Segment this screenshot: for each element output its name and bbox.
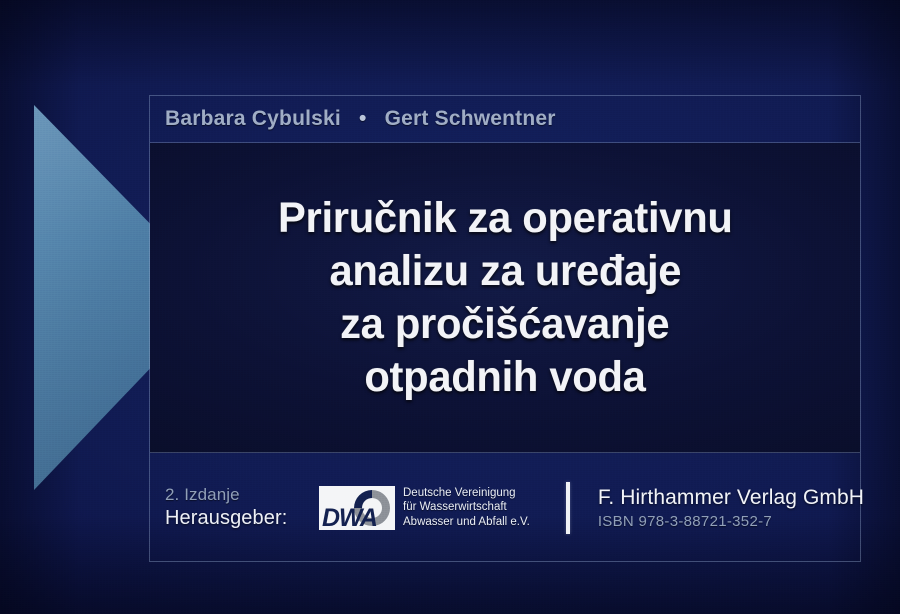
title-line-4: otpadnih voda	[364, 351, 645, 404]
cover-footer: 2. Izdanje Herausgeber: DWA Deutsche Ver…	[150, 454, 860, 561]
cover-panel: Barbara Cybulski • Gert Schwentner Priru…	[149, 95, 861, 562]
author-separator-dot: •	[359, 107, 367, 131]
publisher-label: Herausgeber:	[165, 506, 315, 531]
footer-vertical-divider	[566, 482, 570, 534]
edition-text: 2. Izdanje	[165, 484, 315, 506]
dwa-text-line-1: Deutsche Vereinigung	[403, 486, 530, 501]
dwa-logo-letters: DWA	[322, 504, 377, 530]
author-second-name: Gert Schwentner	[385, 107, 556, 130]
dwa-logo-mark: DWA	[319, 486, 395, 530]
author-first-name: Barbara Cybulski	[165, 107, 341, 130]
book-cover: Barbara Cybulski • Gert Schwentner Priru…	[0, 0, 900, 614]
title-field: Priručnik za operativnu analizu za uređa…	[150, 143, 860, 453]
dwa-logo-text: Deutsche Vereinigung für Wasserwirtschaf…	[403, 486, 530, 530]
title-line-3: za pročišćavanje	[340, 298, 669, 351]
authors-line: Barbara Cybulski • Gert Schwentner	[165, 107, 556, 131]
dwa-text-line-2: für Wasserwirtschaft	[403, 500, 530, 515]
publisher-name: F. Hirthammer Verlag GmbH	[598, 484, 864, 511]
edition-block: 2. Izdanje Herausgeber:	[165, 484, 315, 531]
authors-strip: Barbara Cybulski • Gert Schwentner	[150, 96, 860, 143]
title-line-2: analizu za uređaje	[329, 245, 681, 298]
title-line-1: Priručnik za operativnu	[278, 192, 733, 245]
isbn-text: ISBN 978-3-88721-352-7	[598, 511, 864, 532]
dwa-logo-block: DWA Deutsche Vereinigung für Wasserwirts…	[319, 486, 530, 530]
dwa-text-line-3: Abwasser und Abfall e.V.	[403, 515, 530, 530]
publisher-block: F. Hirthammer Verlag GmbH ISBN 978-3-887…	[598, 484, 864, 532]
